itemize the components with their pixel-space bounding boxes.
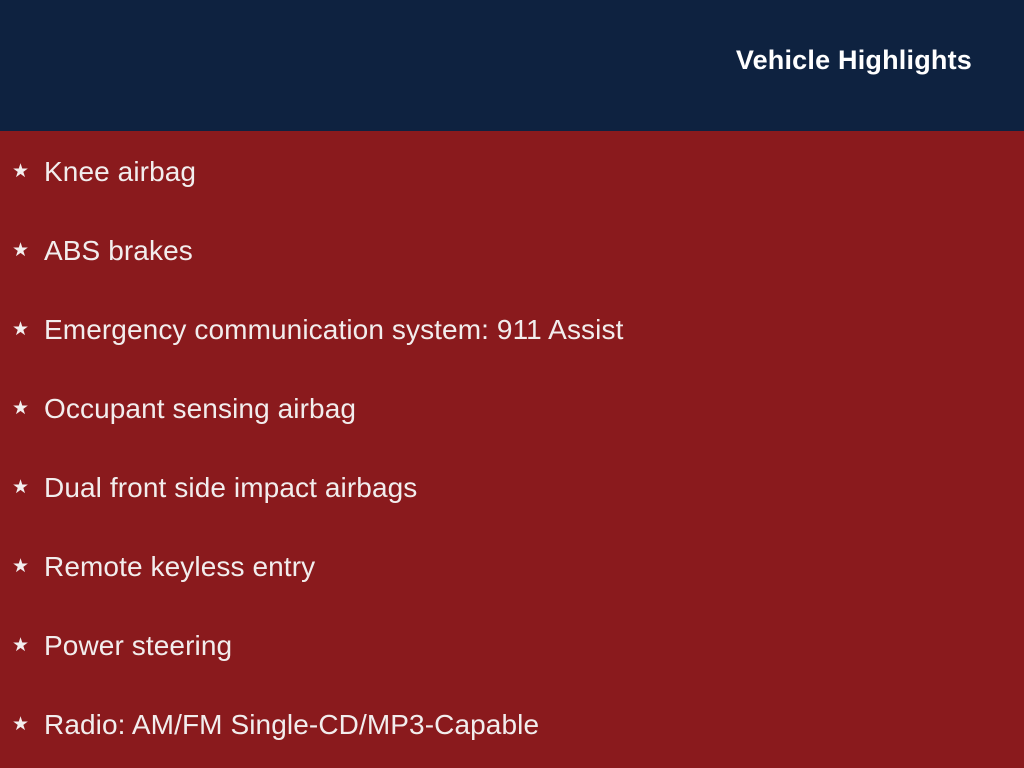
list-item-label: Knee airbag	[44, 155, 196, 189]
list-item: ★ Occupant sensing airbag	[12, 389, 1024, 429]
list-item: ★ ABS brakes	[12, 231, 1024, 271]
list-item-label: Remote keyless entry	[44, 550, 315, 584]
slide-header-band: Vehicle Highlights	[0, 0, 1024, 131]
slide: Vehicle Highlights ★ Knee airbag ★ ABS b…	[0, 0, 1024, 768]
star-bullet-icon: ★	[12, 162, 32, 181]
list-item-label: Radio: AM/FM Single-CD/MP3-Capable	[44, 708, 539, 742]
list-item: ★ Emergency communication system: 911 As…	[12, 310, 1024, 350]
star-bullet-icon: ★	[12, 715, 32, 734]
list-item: ★ Radio: AM/FM Single-CD/MP3-Capable	[12, 705, 1024, 745]
page-title: Vehicle Highlights	[736, 45, 972, 76]
list-item-label: Power steering	[44, 629, 232, 663]
star-bullet-icon: ★	[12, 241, 32, 260]
star-bullet-icon: ★	[12, 399, 32, 418]
star-bullet-icon: ★	[12, 478, 32, 497]
list-item-label: Occupant sensing airbag	[44, 392, 356, 426]
star-bullet-icon: ★	[12, 320, 32, 339]
star-bullet-icon: ★	[12, 557, 32, 576]
list-item-label: Dual front side impact airbags	[44, 471, 417, 505]
vehicle-highlights-list: ★ Knee airbag ★ ABS brakes ★ Emergency c…	[0, 131, 1024, 768]
list-item: ★ Remote keyless entry	[12, 547, 1024, 587]
list-item: ★ Knee airbag	[12, 152, 1024, 192]
list-item-label: Emergency communication system: 911 Assi…	[44, 313, 623, 347]
star-bullet-icon: ★	[12, 636, 32, 655]
list-item: ★ Dual front side impact airbags	[12, 468, 1024, 508]
list-item-label: ABS brakes	[44, 234, 193, 268]
list-item: ★ Power steering	[12, 626, 1024, 666]
